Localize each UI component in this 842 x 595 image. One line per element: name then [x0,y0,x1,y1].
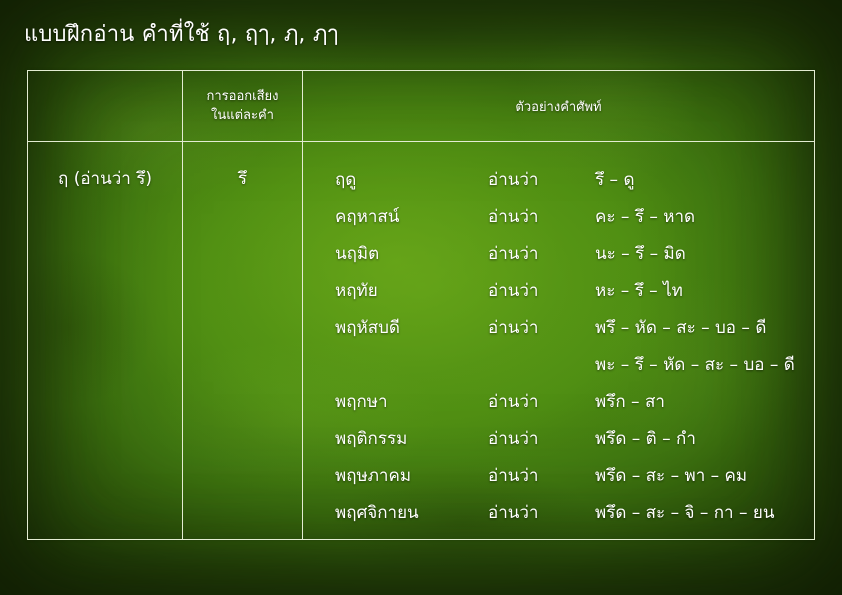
word-row: พฤศจิกายน อ่านว่า พรึด – สะ – จิ – กา – … [303,495,813,532]
word-reading: รึ – ดู [595,162,634,199]
table-cell-sound: รึ [183,142,302,192]
word-text: พฤกษา [335,384,388,421]
reads-as-label: อ่านว่า [488,199,538,236]
word-row: พฤกษา อ่านว่า พรึก – สา [303,384,813,421]
word-row: พฤติกรรม อ่านว่า พรึด – ติ – กำ [303,421,813,458]
table-cell-letter: ฤ (อ่านว่า รึ) [28,142,182,192]
word-reading: นะ – รึ – มิด [595,236,686,273]
word-reading: หะ – รึ – ไท [595,273,683,310]
word-text: พฤหัสบดี [335,310,400,347]
word-text: พฤษภาคม [335,458,411,495]
word-reading: พรึด – ติ – กำ [595,421,696,458]
word-reading: พรึด – สะ – พา – คม [595,458,747,495]
table-header-pronunciation-line1: การออกเสียง [207,87,279,106]
word-row: นฤมิต อ่านว่า นะ – รึ – มิด [303,236,813,273]
reads-as-label: อ่านว่า [488,162,538,199]
word-text: พฤติกรรม [335,421,407,458]
slide-canvas: แบบฝึกอ่าน คำที่ใช้ ฤ, ฤๅ, ฦ, ฦๅ การออกเ… [0,0,842,595]
word-row-alternate-reading: พะ – รึ – หัด – สะ – บอ – ดี [303,347,813,384]
reads-as-label: อ่านว่า [488,310,538,347]
reads-as-label: อ่านว่า [488,384,538,421]
word-reading: พรึด – สะ – จิ – กา – ยน [595,495,775,532]
word-row: คฤหาสน์ อ่านว่า คะ – รึ – หาด [303,199,813,236]
word-row: พฤหัสบดี อ่านว่า พรึ – หัด – สะ – บอ – ด… [303,310,813,347]
reads-as-label: อ่านว่า [488,273,538,310]
word-text: หฤทัย [335,273,378,310]
word-text: ฤดู [335,162,356,199]
word-text: นฤมิต [335,236,379,273]
vocabulary-table: การออกเสียง ในแต่ละคำ ตัวอย่างคำศัพท์ ฤ … [27,70,815,540]
reads-as-label: อ่านว่า [488,236,538,273]
page-title: แบบฝึกอ่าน คำที่ใช้ ฤ, ฤๅ, ฦ, ฦๅ [24,20,338,50]
word-row: หฤทัย อ่านว่า หะ – รึ – ไท [303,273,813,310]
word-row: พฤษภาคม อ่านว่า พรึด – สะ – พา – คม [303,458,813,495]
reads-as-label: อ่านว่า [488,421,538,458]
word-reading: พรึ – หัด – สะ – บอ – ดี [595,310,766,347]
word-reading: คะ – รึ – หาด [595,199,695,236]
word-text: คฤหาสน์ [335,199,399,236]
reads-as-label: อ่านว่า [488,458,538,495]
word-reading: พรึก – สา [595,384,665,421]
reads-as-label: อ่านว่า [488,495,538,532]
example-word-list: ฤดู อ่านว่า รึ – ดู คฤหาสน์ อ่านว่า คะ –… [303,142,813,539]
table-header-pronunciation: การออกเสียง ในแต่ละคำ [183,71,302,141]
word-reading-alternate: พะ – รึ – หัด – สะ – บอ – ดี [595,347,795,384]
word-row: ฤดู อ่านว่า รึ – ดู [303,162,813,199]
word-text: พฤศจิกายน [335,495,419,532]
table-header-pronunciation-line2: ในแต่ละคำ [211,106,274,125]
table-header-examples: ตัวอย่างคำศัพท์ [303,71,814,141]
